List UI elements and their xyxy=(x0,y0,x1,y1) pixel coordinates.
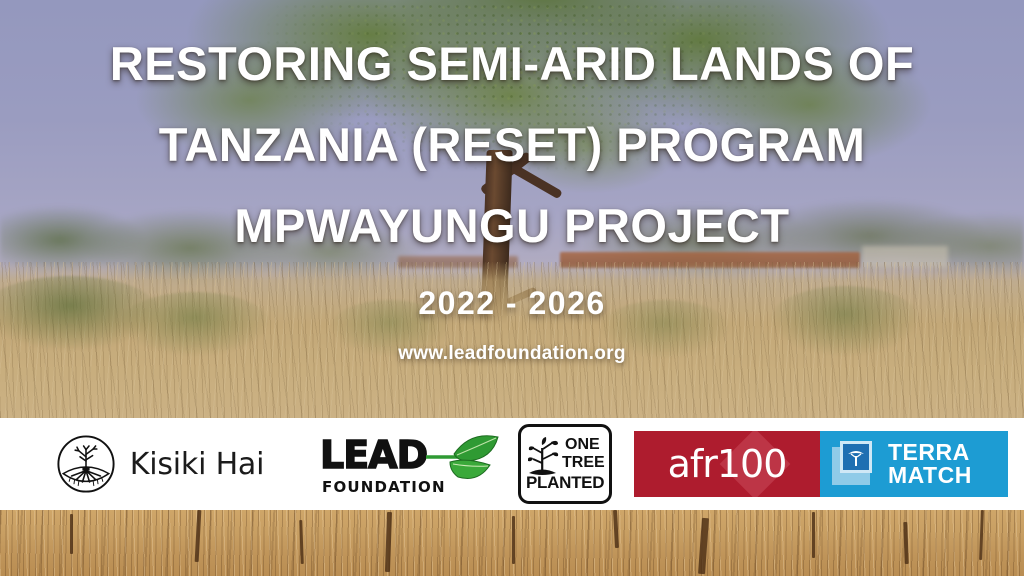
website-url[interactable]: www.leadfoundation.org xyxy=(0,343,1024,365)
otp-line-planted: PLANTED xyxy=(526,473,604,493)
title-block: RESTORING SEMI-ARID LANDS OF TANZANIA (R… xyxy=(0,0,1024,418)
poster-canvas: RESTORING SEMI-ARID LANDS OF TANZANIA (R… xyxy=(0,0,1024,576)
afr100-wordmark: afr100 xyxy=(668,442,787,486)
logo-afr100-terramatch[interactable]: afr100 T xyxy=(634,418,1008,510)
otp-line-tree: TREE xyxy=(562,454,605,472)
logo-one-tree-planted[interactable]: ONE TREE PLANTED xyxy=(506,418,624,510)
acacia-tree-square-icon xyxy=(832,441,878,487)
two-green-leaves-icon xyxy=(424,429,502,492)
lead-wordmark: LEAD xyxy=(320,433,427,477)
terramatch-wordmark: TERRA MATCH xyxy=(888,441,972,486)
title-line-2: TANZANIA (RESET) PROGRAM xyxy=(0,117,1024,172)
logo-afr100[interactable]: afr100 xyxy=(634,431,820,497)
terramatch-line-2: MATCH xyxy=(888,464,972,487)
project-years: 2022 - 2026 xyxy=(0,285,1024,322)
title-line-1: RESTORING SEMI-ARID LANDS OF xyxy=(0,36,1024,91)
logo-lead-foundation[interactable]: LEAD FOUNDATION xyxy=(306,418,506,510)
soil-erosion-strip xyxy=(0,510,1024,576)
kisiki-hai-label: Kisiki Hai xyxy=(130,447,265,482)
logo-terramatch[interactable]: TERRA MATCH xyxy=(820,431,1008,497)
title-line-3: MPWAYUNGU PROJECT xyxy=(0,198,1024,253)
logo-kisiki-hai[interactable]: Kisiki Hai xyxy=(0,418,306,510)
logo-bar: Kisiki Hai LEAD FOUNDATION xyxy=(0,418,1024,510)
otp-line-one: ONE xyxy=(565,436,600,454)
tree-stump-circle-icon xyxy=(56,434,116,494)
terramatch-line-1: TERRA xyxy=(888,441,972,464)
